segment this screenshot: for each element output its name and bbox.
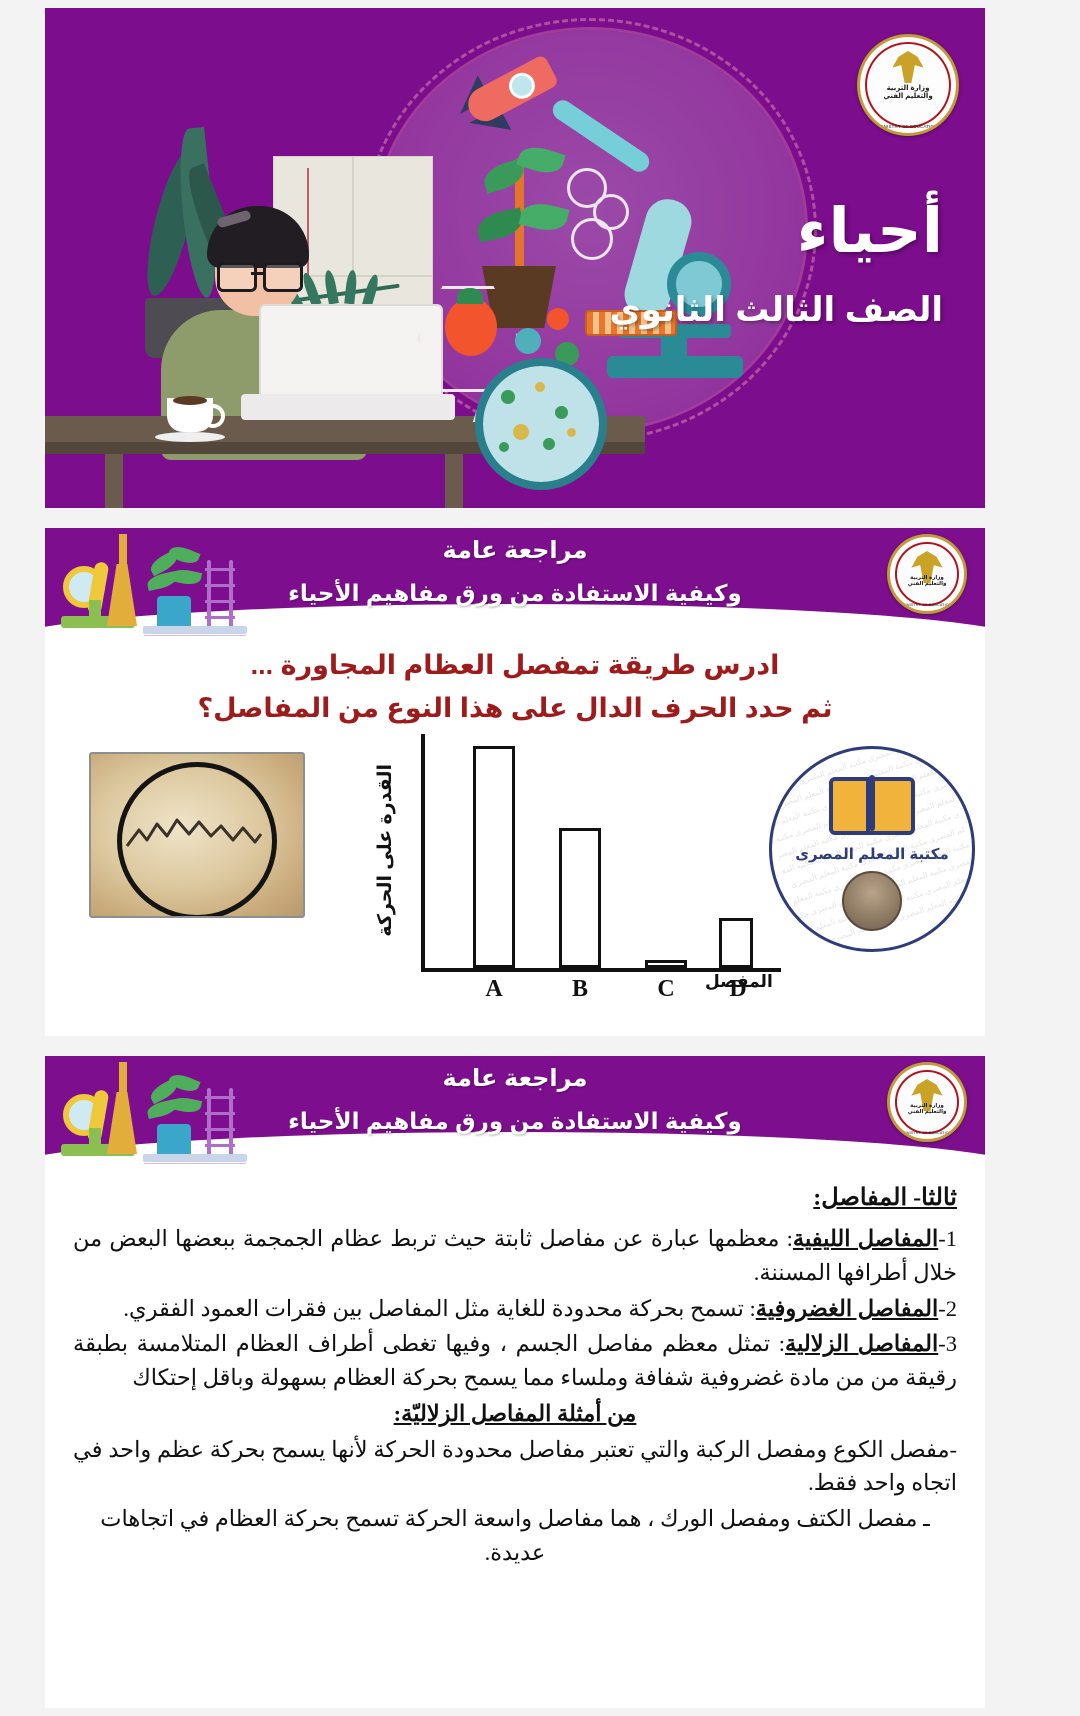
chart-x-axis-label: المفصل xyxy=(705,972,773,992)
potted-plant-icon xyxy=(145,540,203,632)
lesson-item-term: المفاصل الزلالية xyxy=(785,1331,938,1356)
chart-x-tick-label: B xyxy=(559,976,601,1003)
card-body: القدرة على الحركة A B C D المفصل مكتبة ا… xyxy=(45,724,985,1024)
lesson-item-term: المفاصل الغضروفية xyxy=(756,1296,938,1321)
bone-suture-photo xyxy=(89,752,305,918)
lesson-item: 3-المفاصل الزلالية: تمثل معظم مفاصل الجس… xyxy=(73,1327,957,1395)
chart-bar xyxy=(559,828,601,968)
card-header: مراجعة عامة وكيفية الاستفادة من ورق مفاه… xyxy=(45,528,985,636)
chart-bar xyxy=(645,960,687,968)
page-root: أحياء الصف الثالث الثانوي وزارة التربيةو… xyxy=(0,0,1080,1716)
chart-plot-area: A B C D xyxy=(407,734,787,972)
ministry-logo-arabic: وزارة التربيةوالتعليم الفني xyxy=(860,85,956,101)
saucer xyxy=(155,432,225,442)
chart-y-axis xyxy=(421,734,425,972)
question-line-1: ادرس طريقة تمفصل العظام المجاورة ... xyxy=(45,650,985,681)
books-icon xyxy=(143,1154,247,1164)
ministry-logo: وزارة التربيةوالتعليم الفني MINISTRY OF … xyxy=(887,1062,967,1142)
stamp-label: مكتبة المعلم المصرى xyxy=(772,845,972,863)
example-item: ـ مفصل الكتف ومفصل الورك ، هما مفاصل واس… xyxy=(73,1502,957,1570)
desk-leg xyxy=(445,454,463,508)
lesson-heading: ثالثا- المفاصل: xyxy=(73,1180,957,1216)
ministry-logo: وزارة التربيةوالتعليم الفني MINISTRY OF … xyxy=(857,34,959,136)
chart-bar xyxy=(473,746,515,968)
flask-icon xyxy=(107,534,137,630)
lesson-item-text: : تسمح بحركة محدودة للغاية مثل المفاصل ب… xyxy=(123,1296,755,1321)
lab-icons-cluster xyxy=(59,530,249,636)
chart-y-axis-label: القدرة على الحركة xyxy=(375,764,401,937)
review-card-lesson: مراجعة عامة وكيفية الاستفادة من ورق مفاه… xyxy=(45,1056,985,1708)
books-icon xyxy=(143,626,247,636)
suture-line-icon xyxy=(125,806,263,870)
page-title: أحياء xyxy=(797,194,943,267)
petri-dish-icon xyxy=(475,358,607,490)
example-item: -مفصل الكوع ومفصل الركبة والتي تعتبر مفا… xyxy=(73,1433,957,1501)
chart-bar xyxy=(719,918,753,968)
laptop-screen xyxy=(259,304,443,402)
movement-ability-bar-chart: القدرة على الحركة A B C D المفصل xyxy=(375,734,795,1004)
question-line-2: ثم حدد الحرف الدال على هذا النوع من المف… xyxy=(45,693,985,724)
dna-icon xyxy=(205,560,235,630)
lesson-item-term: المفاصل الليفية xyxy=(793,1226,938,1251)
hero-banner: أحياء الصف الثالث الثانوي وزارة التربيةو… xyxy=(45,8,985,508)
lab-icons-cluster xyxy=(59,1058,249,1164)
dna-icon xyxy=(205,1088,235,1158)
stamp-avatar xyxy=(842,871,902,931)
flask-icon xyxy=(107,1062,137,1158)
student-hair xyxy=(207,206,309,268)
chart-x-tick-label: C xyxy=(645,976,687,1003)
examples-heading: من أمثلة المفاصل الزلاليّة: xyxy=(73,1397,957,1431)
ministry-logo-english: MINISTRY OF EDUCATION xyxy=(890,1131,964,1135)
lesson-body: ثالثا- المفاصل: 1-المفاصل الليفية: معظمه… xyxy=(45,1164,985,1582)
tomato-icon xyxy=(445,298,497,356)
open-book-icon xyxy=(829,777,915,833)
ministry-logo-arabic: وزارة التربيةوالتعليم الفني xyxy=(890,575,964,588)
ministry-logo: وزارة التربيةوالتعليم الفني MINISTRY OF … xyxy=(887,534,967,614)
glasses-icon xyxy=(217,262,301,286)
desk-leg xyxy=(105,454,123,508)
lesson-item: 1-المفاصل الليفية: معظمها عبارة عن مفاصل… xyxy=(73,1222,957,1290)
chart-x-tick-label: A xyxy=(473,976,515,1003)
page-subtitle: الصف الثالث الثانوي xyxy=(610,290,943,330)
card-header: مراجعة عامة وكيفية الاستفادة من ورق مفاه… xyxy=(45,1056,985,1164)
lesson-item-number: 1- xyxy=(938,1226,957,1251)
ministry-logo-arabic: وزارة التربيةوالتعليم الفني xyxy=(890,1103,964,1116)
potted-plant-icon xyxy=(145,1068,203,1160)
laptop-keyboard xyxy=(241,394,455,420)
ministry-logo-english: MINISTRY OF EDUCATION xyxy=(860,124,956,129)
coffee-surface xyxy=(173,396,207,405)
lesson-item-number: 2- xyxy=(938,1296,957,1321)
ministry-logo-english: MINISTRY OF EDUCATION xyxy=(890,603,964,607)
review-card-chart: مراجعة عامة وكيفية الاستفادة من ورق مفاه… xyxy=(45,528,985,1036)
lesson-item-number: 3- xyxy=(938,1331,957,1356)
library-watermark-stamp: مكتبة المعلم المصرى مكتبة المعلم المصرى … xyxy=(769,746,975,952)
lesson-item: 2-المفاصل الغضروفية: تسمح بحركة محدودة ل… xyxy=(73,1292,957,1326)
